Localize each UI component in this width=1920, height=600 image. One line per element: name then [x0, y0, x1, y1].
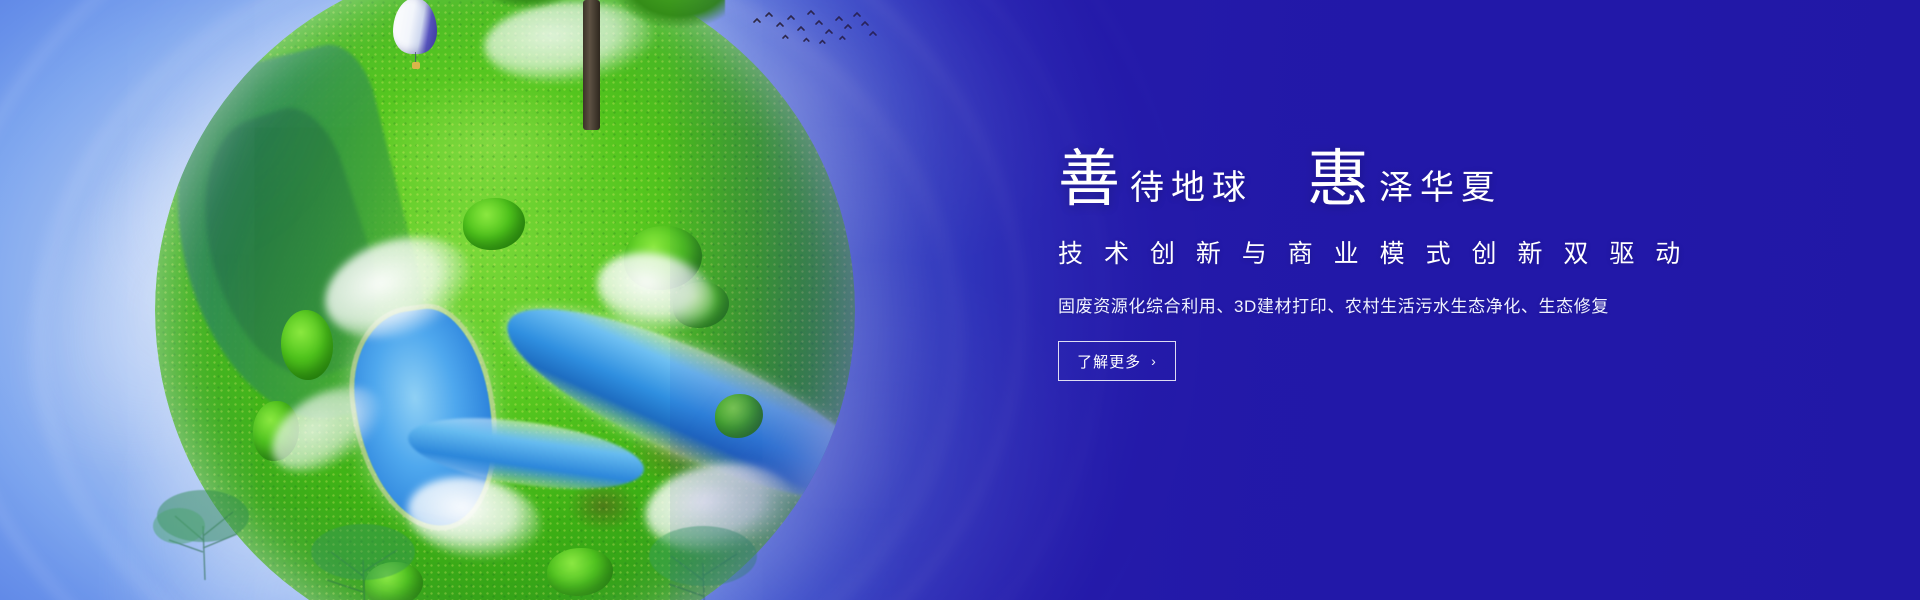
hot-air-balloon-icon — [393, 0, 439, 76]
page-title: 善 待地球 惠 泽华夏 — [1058, 132, 1698, 210]
subtitle: 技 术 创 新 与 商 业 模 式 创 新 双 驱 动 — [1058, 234, 1698, 270]
headline-text-2: 泽华夏 — [1379, 171, 1502, 210]
tree-trunk — [583, 0, 600, 130]
headline-char-1: 善 — [1058, 149, 1120, 210]
description: 固废资源化综合利用、3D建材打印、农村生活污水生态净化、生态修复 — [1058, 292, 1698, 317]
learn-more-label: 了解更多 — [1077, 351, 1141, 372]
headline-char-2: 惠 — [1307, 149, 1369, 210]
balloon-envelope — [393, 0, 437, 54]
hero-copy: 善 待地球 惠 泽华夏 技 术 创 新 与 商 业 模 式 创 新 双 驱 动 … — [1058, 132, 1698, 381]
learn-more-button[interactable]: 了解更多 › — [1058, 341, 1176, 381]
chevron-right-icon: › — [1151, 354, 1157, 368]
hero-banner: 善 待地球 惠 泽华夏 技 术 创 新 与 商 业 模 式 创 新 双 驱 动 … — [0, 0, 1920, 600]
headline-text-1: 待地球 — [1130, 171, 1253, 210]
bush — [281, 310, 333, 380]
balloon-basket — [412, 62, 420, 69]
tree-silhouette — [275, 480, 485, 600]
